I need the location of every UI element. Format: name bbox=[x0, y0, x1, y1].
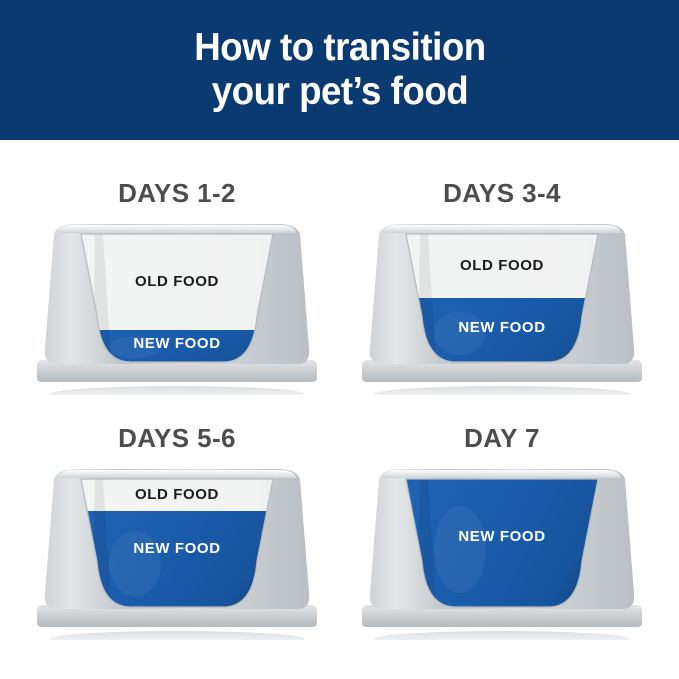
bowl-shadow bbox=[374, 386, 630, 395]
header-banner: How to transition your pet’s food bbox=[0, 0, 679, 140]
new-food-sheen bbox=[434, 506, 486, 593]
bowl-rim bbox=[58, 470, 296, 478]
bowl-graphic-day-7 bbox=[362, 465, 642, 640]
bowl-rim bbox=[58, 225, 296, 233]
bowl-shadow bbox=[374, 631, 630, 640]
bowl-graphic-days-3-4 bbox=[362, 220, 642, 395]
food-bowl-days-1-2: OLD FOODNEW FOOD bbox=[37, 220, 317, 395]
new-food-sheen bbox=[109, 337, 161, 359]
food-bowl-days-3-4: OLD FOODNEW FOOD bbox=[362, 220, 642, 395]
bowl-rim bbox=[383, 470, 621, 478]
food-bowl-day-7: NEW FOOD bbox=[362, 465, 642, 640]
bowl-rim bbox=[383, 225, 621, 233]
stage-label-days-5-6: DAYS 5-6 bbox=[22, 423, 332, 454]
food-bowl-days-5-6: OLD FOODNEW FOOD bbox=[37, 465, 317, 640]
page-title: How to transition your pet’s food bbox=[175, 26, 504, 113]
bowl-graphic-days-1-2 bbox=[37, 220, 317, 395]
new-food-sheen bbox=[109, 531, 161, 596]
transition-stage-grid: DAYS 1-2OLD FOODNEW FOODDAYS 3-4OLD FOOD… bbox=[0, 140, 679, 679]
bowl-shadow bbox=[49, 631, 305, 640]
stage-label-day-7: DAY 7 bbox=[347, 423, 657, 454]
bowl-shadow bbox=[49, 386, 305, 395]
stage-days-5-6: DAYS 5-6OLD FOODNEW FOOD bbox=[22, 423, 332, 668]
bowl-graphic-days-5-6 bbox=[37, 465, 317, 640]
stage-label-days-1-2: DAYS 1-2 bbox=[22, 178, 332, 209]
new-food-sheen bbox=[434, 311, 486, 355]
stage-day-7: DAY 7NEW FOOD bbox=[347, 423, 657, 668]
stage-days-1-2: DAYS 1-2OLD FOODNEW FOOD bbox=[22, 178, 332, 423]
stage-label-days-3-4: DAYS 3-4 bbox=[347, 178, 657, 209]
stage-days-3-4: DAYS 3-4OLD FOODNEW FOOD bbox=[347, 178, 657, 423]
